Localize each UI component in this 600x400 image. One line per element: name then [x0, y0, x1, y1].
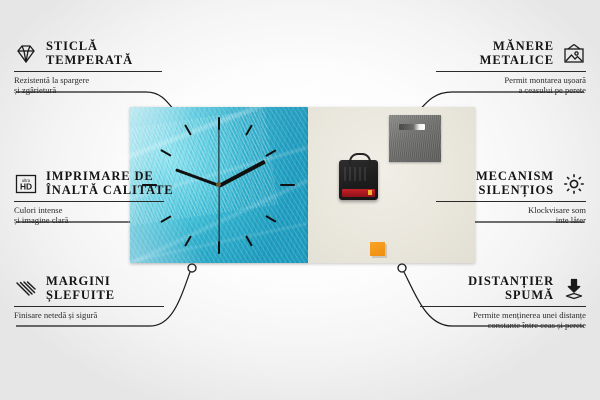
- callout-header: STICLĂ TEMPERATĂ: [14, 40, 162, 67]
- callout-title: DISTANȚIER SPUMĂ: [468, 275, 554, 302]
- callout-divider: [436, 71, 586, 72]
- callout-subtitle: Permit montarea ușoară a ceasului pe per…: [436, 75, 586, 96]
- callout-divider: [436, 201, 586, 202]
- callout-margini-slefuite: MARGINI ȘLEFUITE Finisare netedă și sigu…: [14, 275, 164, 320]
- hanger-slot: [399, 124, 425, 130]
- callout-imprimare-calitate: ultra HD IMPRIMARE DE ÎNALTĂ CALITATE Cu…: [14, 170, 164, 226]
- battery: [342, 189, 375, 197]
- clock-second-hand: [218, 186, 219, 248]
- callout-header: MARGINI ȘLEFUITE: [14, 275, 164, 302]
- gear-icon: [562, 172, 586, 196]
- clock-center-hub: [216, 182, 221, 187]
- ultra-hd-icon: ultra HD: [14, 172, 38, 196]
- wall-hanger-icon: [562, 42, 586, 66]
- callout-subtitle: Culori intense și imagine clară: [14, 205, 164, 226]
- callout-header: MECANISM SILENȚIOS: [436, 170, 586, 197]
- callout-title: MĂNERE METALICE: [480, 40, 554, 67]
- callout-divider: [420, 306, 586, 307]
- mechanism-hook: [349, 153, 371, 165]
- callout-divider: [14, 71, 162, 72]
- callout-subtitle: Rezistentă la spargere și zgârietură: [14, 75, 162, 96]
- callout-sticla-temperata: STICLĂ TEMPERATĂ Rezistentă la spargere …: [14, 40, 162, 96]
- callout-subtitle: Finisare netedă și sigură: [14, 310, 164, 320]
- callout-divider: [14, 201, 164, 202]
- callout-header: DISTANȚIER SPUMĂ: [420, 275, 586, 302]
- foam-spacer-icon: [562, 277, 586, 301]
- svg-text:HD: HD: [20, 181, 32, 191]
- callout-title: MARGINI ȘLEFUITE: [46, 275, 115, 302]
- clock-tick: [280, 184, 295, 186]
- callout-manere-metalice: MĂNERE METALICE Permit montarea ușoară a…: [436, 40, 586, 96]
- metal-hanger: [389, 115, 441, 162]
- diamond-icon: [14, 42, 38, 66]
- callout-subtitle: Permite menținerea unei distanțe constan…: [420, 310, 586, 331]
- callout-title: IMPRIMARE DE ÎNALTĂ CALITATE: [46, 170, 174, 197]
- infographic-canvas: STICLĂ TEMPERATĂ Rezistentă la spargere …: [0, 0, 600, 400]
- callout-distantier-spuma: DISTANȚIER SPUMĂ Permite menținerea unei…: [420, 275, 586, 331]
- mechanism-label: [344, 167, 366, 181]
- callout-subtitle: Klockvisare som inte låter: [436, 205, 586, 226]
- callout-mecanism-silentios: MECANISM SILENȚIOS Klockvisare som inte …: [436, 170, 586, 226]
- callout-header: ultra HD IMPRIMARE DE ÎNALTĂ CALITATE: [14, 170, 164, 197]
- callout-divider: [14, 306, 164, 307]
- callout-title: STICLĂ TEMPERATĂ: [46, 40, 133, 67]
- foam-spacer: [370, 242, 385, 256]
- clock-second-hand: [218, 126, 219, 186]
- polished-edges-icon: [14, 277, 38, 301]
- product-images: [130, 107, 475, 263]
- callout-title: MECANISM SILENȚIOS: [476, 170, 554, 197]
- callout-header: MĂNERE METALICE: [436, 40, 586, 67]
- clock-mechanism: [339, 160, 378, 200]
